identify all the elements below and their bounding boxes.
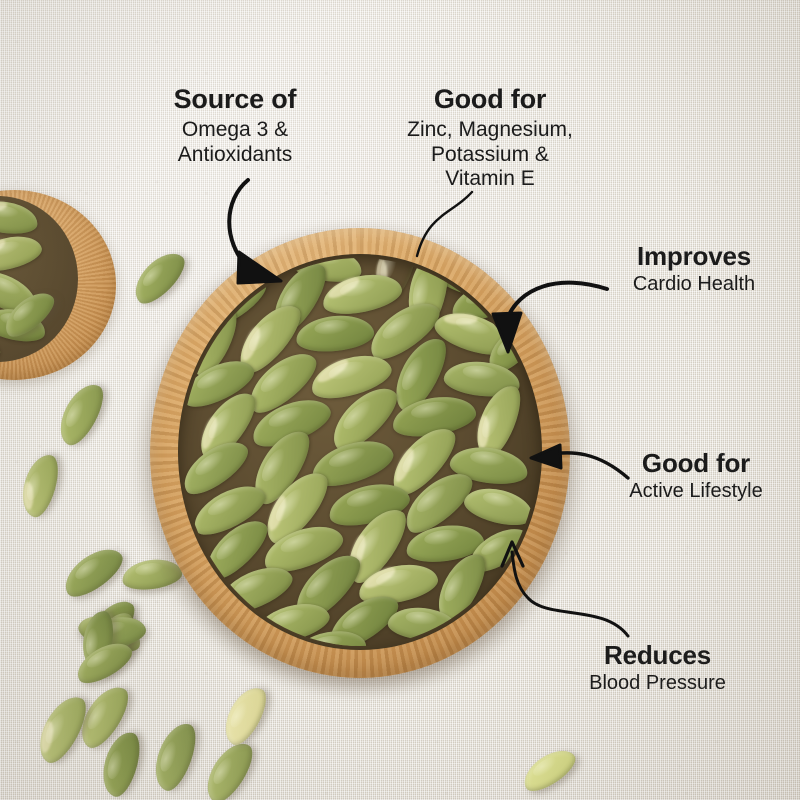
infographic-canvas: Source of Omega 3 &Antioxidants Good for… bbox=[0, 0, 800, 800]
vignette-overlay bbox=[0, 0, 800, 800]
